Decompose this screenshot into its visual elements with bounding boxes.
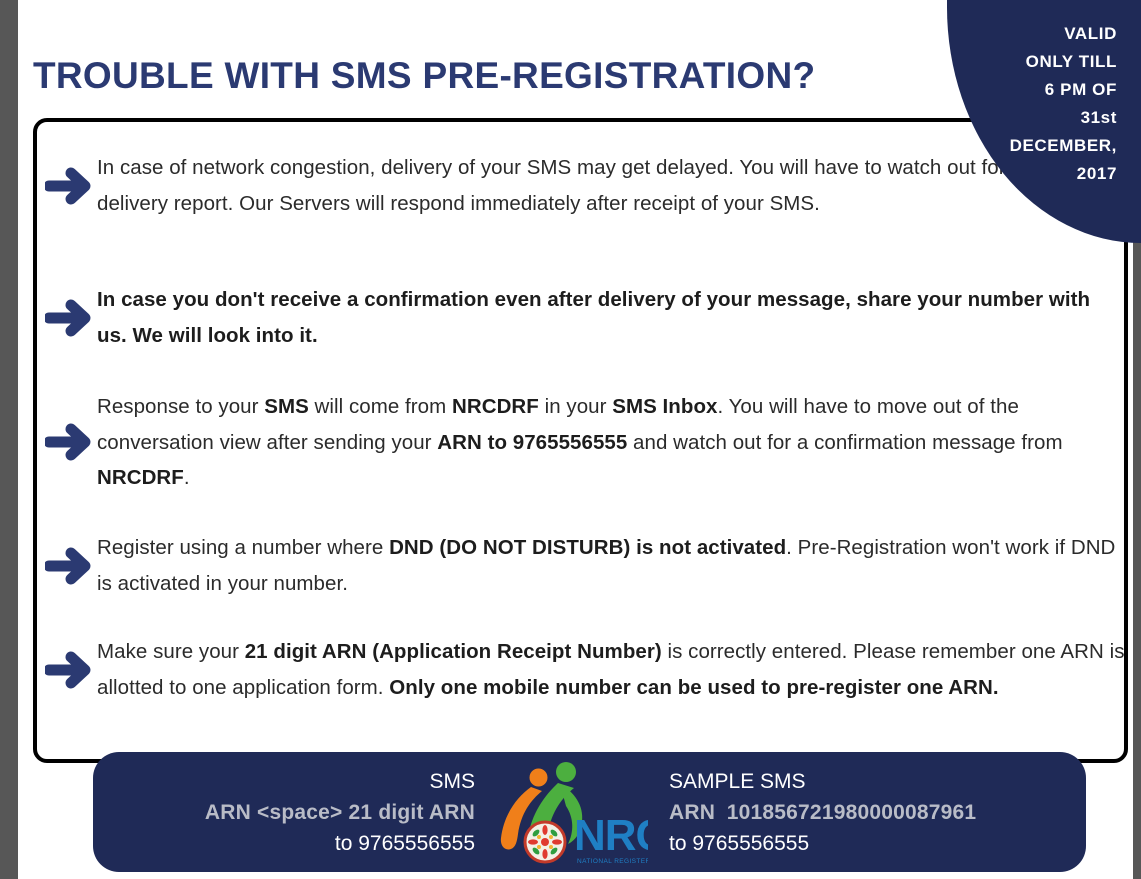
footer-sms-format-line: ARN <space> 21 digit ARN [93,797,475,828]
footer-sample-heading: SAMPLE SMS [669,766,1086,797]
footer-arn-number: 101856721980000087961 [727,801,976,824]
bullet-item: Response to your SMS will come from NRCD… [45,389,1125,496]
arrow-right-icon [45,422,97,462]
page-title: TROUBLE WITH SMS PRE-REGISTRATION? [33,55,815,97]
bullet-item: Make sure your 21 digit ARN (Application… [45,634,1125,705]
arrow-right-icon [45,166,97,206]
validity-line-2: ONLY TILL [961,48,1117,76]
bullet-text-2: In case you don't receive a confirmation… [97,282,1125,353]
bullet-item: Register using a number where DND (DO NO… [45,530,1125,601]
footer-sms-heading: SMS [93,766,475,797]
nrc-logo-graphic: NRC NATIONAL REGISTER OF CITIZENS [498,756,648,868]
bullet-item: In case you don't receive a confirmation… [45,282,1125,353]
footer-sms-format: SMS ARN <space> 21 digit ARN to 97655565… [93,766,493,859]
page-title-bar: TROUBLE WITH SMS PRE-REGISTRATION? [33,40,953,112]
validity-line-3: 6 PM OF [961,76,1117,104]
footer-bar: SMS ARN <space> 21 digit ARN to 97655565… [93,752,1086,872]
footer-arn-label: ARN [669,801,715,824]
footer-sample-arn-line: ARN 101856721980000087961 [669,797,1086,828]
poster-root: TROUBLE WITH SMS PRE-REGISTRATION? VALID… [0,0,1141,879]
footer-sample-destination: to 9765556555 [669,828,1086,859]
bullet-text-5: Make sure your 21 digit ARN (Application… [97,634,1125,705]
content-panel: In case of network congestion, delivery … [33,118,1128,763]
validity-line-1: VALID [961,20,1117,48]
footer-sample-sms: SAMPLE SMS ARN 101856721980000087961 to … [653,766,1086,859]
footer-sms-destination: to 9765556555 [93,828,475,859]
arrow-right-icon [45,650,97,690]
validity-line-4: 31st [961,104,1117,132]
arrow-right-icon [45,546,97,586]
validity-line-5: DECEMBER, [961,132,1117,160]
svg-text:NRC: NRC [574,811,648,860]
svg-text:NATIONAL REGISTER OF CITIZENS: NATIONAL REGISTER OF CITIZENS [577,858,648,865]
left-edge-band [0,0,18,879]
nrc-logo: NRC NATIONAL REGISTER OF CITIZENS [493,756,653,868]
arrow-right-icon [45,298,97,338]
bullet-text-4: Register using a number where DND (DO NO… [97,530,1125,601]
validity-line-6: 2017 [961,160,1117,188]
bullet-text-3: Response to your SMS will come from NRCD… [97,389,1125,496]
